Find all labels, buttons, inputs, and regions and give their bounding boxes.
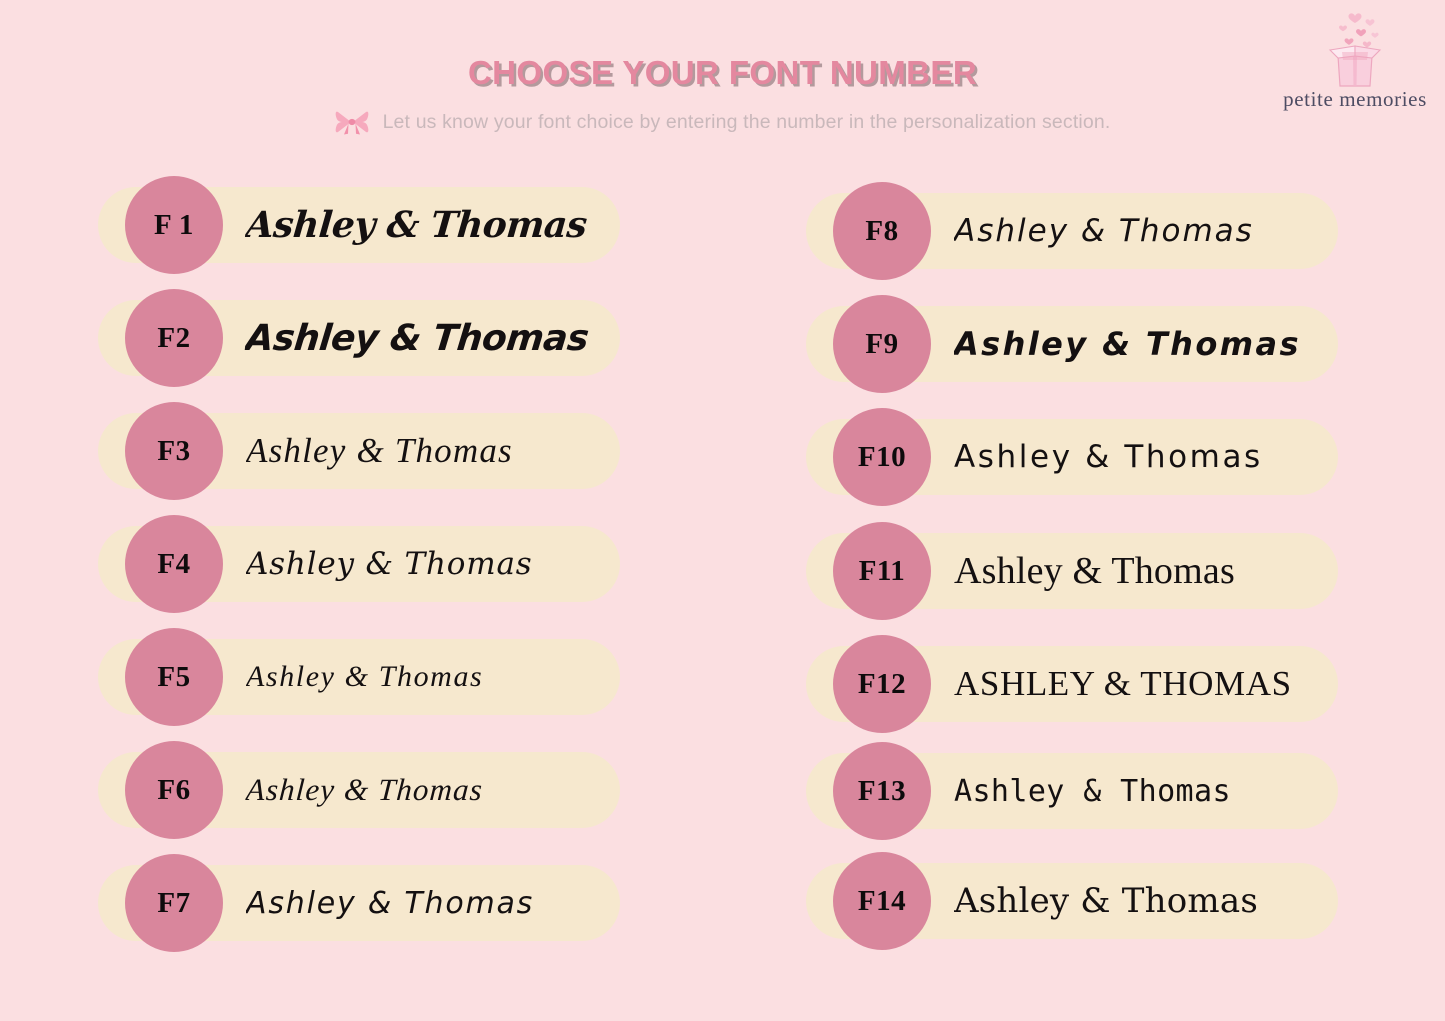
- font-sample-text: Ashley & Thomas: [246, 526, 614, 602]
- font-option-row[interactable]: F7 Ashley & Thomas: [98, 854, 620, 952]
- font-number-badge[interactable]: F14: [833, 852, 931, 950]
- font-option-row[interactable]: F11 Ashley & Thomas: [806, 522, 1338, 620]
- font-sample-text: Ashley & Thomas: [246, 865, 614, 941]
- font-number-badge[interactable]: F11: [833, 522, 931, 620]
- font-sample-text: Ashley & Thomas: [243, 752, 616, 828]
- font-number-label: F5: [157, 663, 190, 692]
- font-option-row[interactable]: F 1 Ashley & Thomas: [98, 176, 620, 274]
- font-sample-text: Ashley & Thomas: [246, 413, 614, 489]
- font-number-badge[interactable]: F12: [833, 635, 931, 733]
- font-sample-text: ASHLEY & THOMAS: [954, 646, 1332, 722]
- font-number-label: F10: [858, 443, 906, 472]
- font-sample-text: Ashley & Thomas: [954, 533, 1332, 609]
- font-number-badge[interactable]: F13: [833, 742, 931, 840]
- font-sample-text: Ashley & Thomas: [954, 419, 1332, 495]
- font-option-row[interactable]: F14 Ashley & Thomas: [806, 852, 1338, 950]
- font-option-row[interactable]: F10 Ashley & Thomas: [806, 408, 1338, 506]
- font-sample-text: Ashley & Thomas: [954, 863, 1332, 939]
- font-sample-text: Ashley & Thomas: [246, 639, 614, 715]
- font-number-badge[interactable]: F2: [125, 289, 223, 387]
- font-sample-text: Ashley & Thomas: [242, 300, 618, 376]
- font-number-label: F2: [157, 324, 190, 353]
- font-number-label: F4: [157, 550, 190, 579]
- font-number-badge[interactable]: F8: [833, 182, 931, 280]
- font-option-row[interactable]: F13 Ashley & Thomas: [806, 742, 1338, 840]
- font-number-badge[interactable]: F5: [125, 628, 223, 726]
- font-option-row[interactable]: F8 Ashley & Thomas: [806, 182, 1338, 280]
- font-number-badge[interactable]: F4: [125, 515, 223, 613]
- font-number-badge[interactable]: F7: [125, 854, 223, 952]
- font-option-row[interactable]: F5 Ashley & Thomas: [98, 628, 620, 726]
- font-option-row[interactable]: F6 Ashley & Thomas: [98, 741, 620, 839]
- font-number-label: F13: [858, 777, 906, 806]
- font-number-label: F12: [858, 670, 906, 699]
- font-number-label: F9: [865, 330, 898, 359]
- font-sample-text: Ashley & Thomas: [954, 306, 1332, 382]
- font-sample-text: Ashley & Thomas: [954, 753, 1332, 829]
- font-sample-text: Ashley & Thomas: [243, 187, 618, 263]
- font-number-label: F7: [157, 889, 190, 918]
- font-sample-text: Ashley & Thomas: [954, 193, 1332, 269]
- font-options-area: F 1 Ashley & Thomas F2 Ashley & Thomas F…: [0, 0, 1445, 1021]
- font-number-badge[interactable]: F10: [833, 408, 931, 506]
- font-number-badge[interactable]: F 1: [125, 176, 223, 274]
- font-number-label: F11: [859, 557, 906, 586]
- font-option-row[interactable]: F3 Ashley & Thomas: [98, 402, 620, 500]
- font-number-label: F6: [157, 776, 190, 805]
- font-number-badge[interactable]: F3: [125, 402, 223, 500]
- font-number-label: F 1: [154, 211, 194, 240]
- font-number-badge[interactable]: F6: [125, 741, 223, 839]
- font-option-row[interactable]: F2 Ashley & Thomas: [98, 289, 620, 387]
- font-option-row[interactable]: F4 Ashley & Thomas: [98, 515, 620, 613]
- font-number-label: F3: [157, 437, 190, 466]
- font-option-row[interactable]: F9 Ashley & Thomas: [806, 295, 1338, 393]
- font-number-label: F8: [865, 217, 898, 246]
- font-number-label: F14: [858, 887, 906, 916]
- font-option-row[interactable]: F12 ASHLEY & THOMAS: [806, 635, 1338, 733]
- font-number-badge[interactable]: F9: [833, 295, 931, 393]
